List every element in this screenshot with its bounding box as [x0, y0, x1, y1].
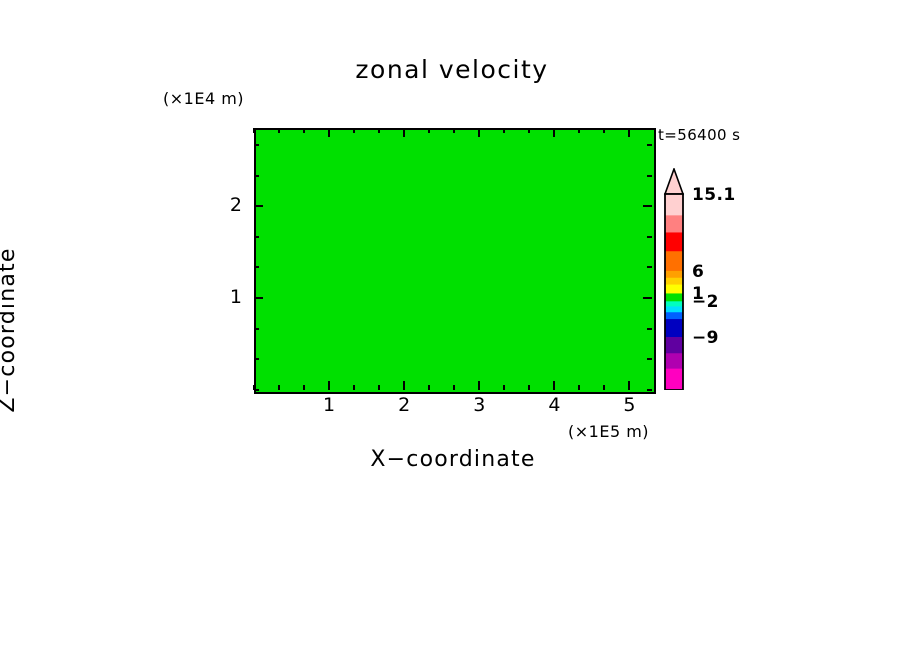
x-tick-bottom-minor: [353, 385, 355, 390]
x-tick-bottom-minor: [528, 385, 530, 390]
xaxis-units-label: (×1E5 m): [568, 422, 649, 441]
y-tick-right-minor: [647, 389, 652, 391]
colorbar-band-gold: [665, 278, 683, 285]
y-tick-left-major: [254, 297, 263, 299]
yaxis-title: Z−coordinate: [0, 180, 20, 480]
colorbar-label-4: −9: [692, 328, 719, 348]
x-tick-top-minor: [428, 128, 430, 133]
x-tick-label-5: 5: [614, 394, 644, 416]
time-annotation: t=56400 s: [658, 126, 740, 144]
y-tick-right-major: [643, 205, 652, 207]
x-tick-bottom-minor: [603, 385, 605, 390]
figure-root: zonal velocity (×1E4 m) t=56400 s (×1E5 …: [0, 0, 904, 654]
y-tick-left-minor: [254, 236, 259, 238]
colorbar-band-salmon: [665, 215, 683, 232]
x-tick-top-minor: [303, 128, 305, 133]
y-tick-left-minor: [254, 266, 259, 268]
x-tick-top-minor: [278, 128, 280, 133]
x-tick-bottom-minor: [453, 385, 455, 390]
colorbar-band-magenta-purple: [665, 353, 683, 369]
x-tick-top-major: [628, 128, 630, 137]
x-tick-bottom-minor: [278, 385, 280, 390]
x-tick-bottom-minor: [503, 385, 505, 390]
x-tick-bottom-major: [403, 381, 405, 390]
y-tick-right-minor: [647, 236, 652, 238]
colorbar-band-cyan: [665, 306, 683, 312]
y-tick-left-minor: [254, 175, 259, 177]
x-tick-bottom-minor: [578, 385, 580, 390]
y-tick-left-minor: [254, 144, 259, 146]
x-tick-top-minor: [603, 128, 605, 133]
x-tick-top-minor: [503, 128, 505, 133]
y-tick-label-2: 2: [212, 194, 242, 216]
x-tick-top-minor: [353, 128, 355, 133]
colorbar-band-red: [665, 232, 683, 251]
colorbar-band-yellow: [665, 285, 683, 294]
x-tick-label-1: 1: [314, 394, 344, 416]
x-tick-label-2: 2: [389, 394, 419, 416]
colorbar-band-light-pink: [665, 194, 683, 216]
y-tick-right-major: [643, 297, 652, 299]
y-tick-left-minor: [254, 389, 259, 391]
x-tick-bottom-minor: [428, 385, 430, 390]
x-tick-top-minor: [378, 128, 380, 133]
y-tick-right-minor: [647, 328, 652, 330]
x-tick-top-major: [553, 128, 555, 137]
y-tick-label-1: 1: [212, 286, 242, 308]
colorbar-band-blue: [665, 312, 683, 319]
yaxis-units-label: (×1E4 m): [163, 89, 244, 108]
y-tick-right-minor: [647, 175, 652, 177]
colorbar-arrow-tip: [665, 169, 683, 194]
colorbar-bands: [662, 168, 686, 390]
colorbar-band-navy: [665, 319, 683, 337]
x-tick-bottom-minor: [378, 385, 380, 390]
x-tick-bottom-major: [478, 381, 480, 390]
y-tick-left-major: [254, 205, 263, 207]
colorbar-band-dark-amber: [665, 271, 683, 278]
contour-field: [256, 130, 654, 392]
x-tick-top-minor: [528, 128, 530, 133]
x-tick-top-minor: [253, 128, 255, 133]
colorbar-label-3: −2: [692, 292, 719, 312]
colorbar[interactable]: [662, 168, 686, 390]
y-tick-right-minor: [647, 144, 652, 146]
y-tick-right-minor: [647, 266, 652, 268]
y-tick-left-minor: [254, 358, 259, 360]
contour-plot-area[interactable]: [254, 128, 656, 394]
colorbar-label-1: 6: [692, 262, 704, 282]
xaxis-title: X−coordinate: [254, 447, 652, 472]
x-tick-bottom-major: [553, 381, 555, 390]
x-tick-top-major: [328, 128, 330, 137]
colorbar-label-0: 15.1: [692, 185, 736, 205]
x-tick-bottom-major: [328, 381, 330, 390]
y-tick-left-minor: [254, 328, 259, 330]
x-tick-label-3: 3: [464, 394, 494, 416]
x-tick-top-major: [478, 128, 480, 137]
page-title: zonal velocity: [0, 55, 904, 84]
y-tick-right-minor: [647, 358, 652, 360]
colorbar-band-green: [665, 293, 683, 301]
colorbar-band-spring-green: [665, 301, 683, 307]
x-tick-label-4: 4: [539, 394, 569, 416]
x-tick-bottom-major: [628, 381, 630, 390]
x-tick-bottom-minor: [303, 385, 305, 390]
x-tick-top-minor: [453, 128, 455, 133]
x-tick-top-major: [403, 128, 405, 137]
colorbar-band-purple: [665, 337, 683, 354]
colorbar-band-magenta: [665, 369, 683, 390]
x-tick-top-minor: [578, 128, 580, 133]
colorbar-band-orange: [665, 251, 683, 271]
